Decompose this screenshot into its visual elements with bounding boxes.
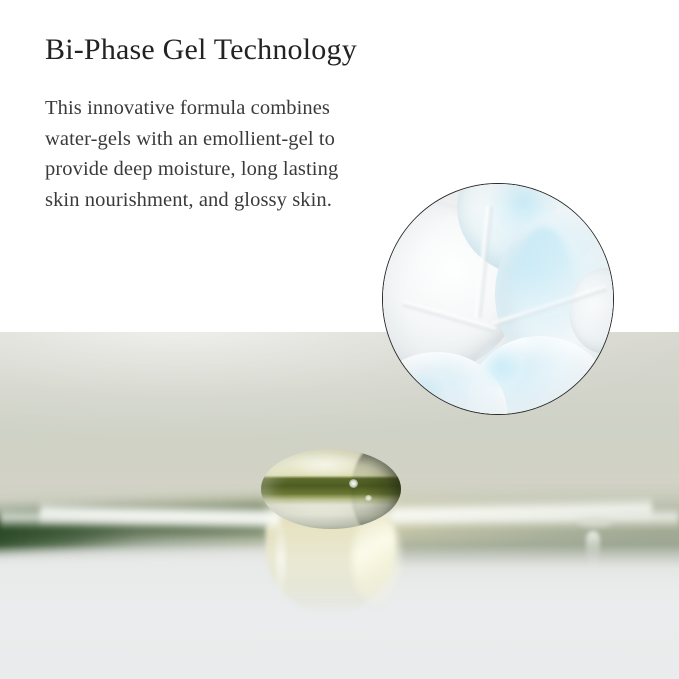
- product-feature-panel: Bi-Phase Gel Technology This innovative …: [0, 0, 679, 679]
- gel-bubbles-macro-circle: [382, 183, 614, 415]
- bi-phase-gel-droplet: [261, 449, 401, 529]
- small-droplet-cap: [578, 517, 612, 527]
- page-title: Bi-Phase Gel Technology: [45, 30, 357, 70]
- droplet-top-sheen: [287, 453, 361, 477]
- droplet-specular-highlight-secondary: [365, 495, 372, 501]
- description-text: This innovative formula combines water-g…: [45, 93, 357, 215]
- inset-vignette: [383, 184, 613, 414]
- droplet-specular-highlight: [349, 479, 358, 488]
- droplet-shadow-right: [351, 449, 401, 529]
